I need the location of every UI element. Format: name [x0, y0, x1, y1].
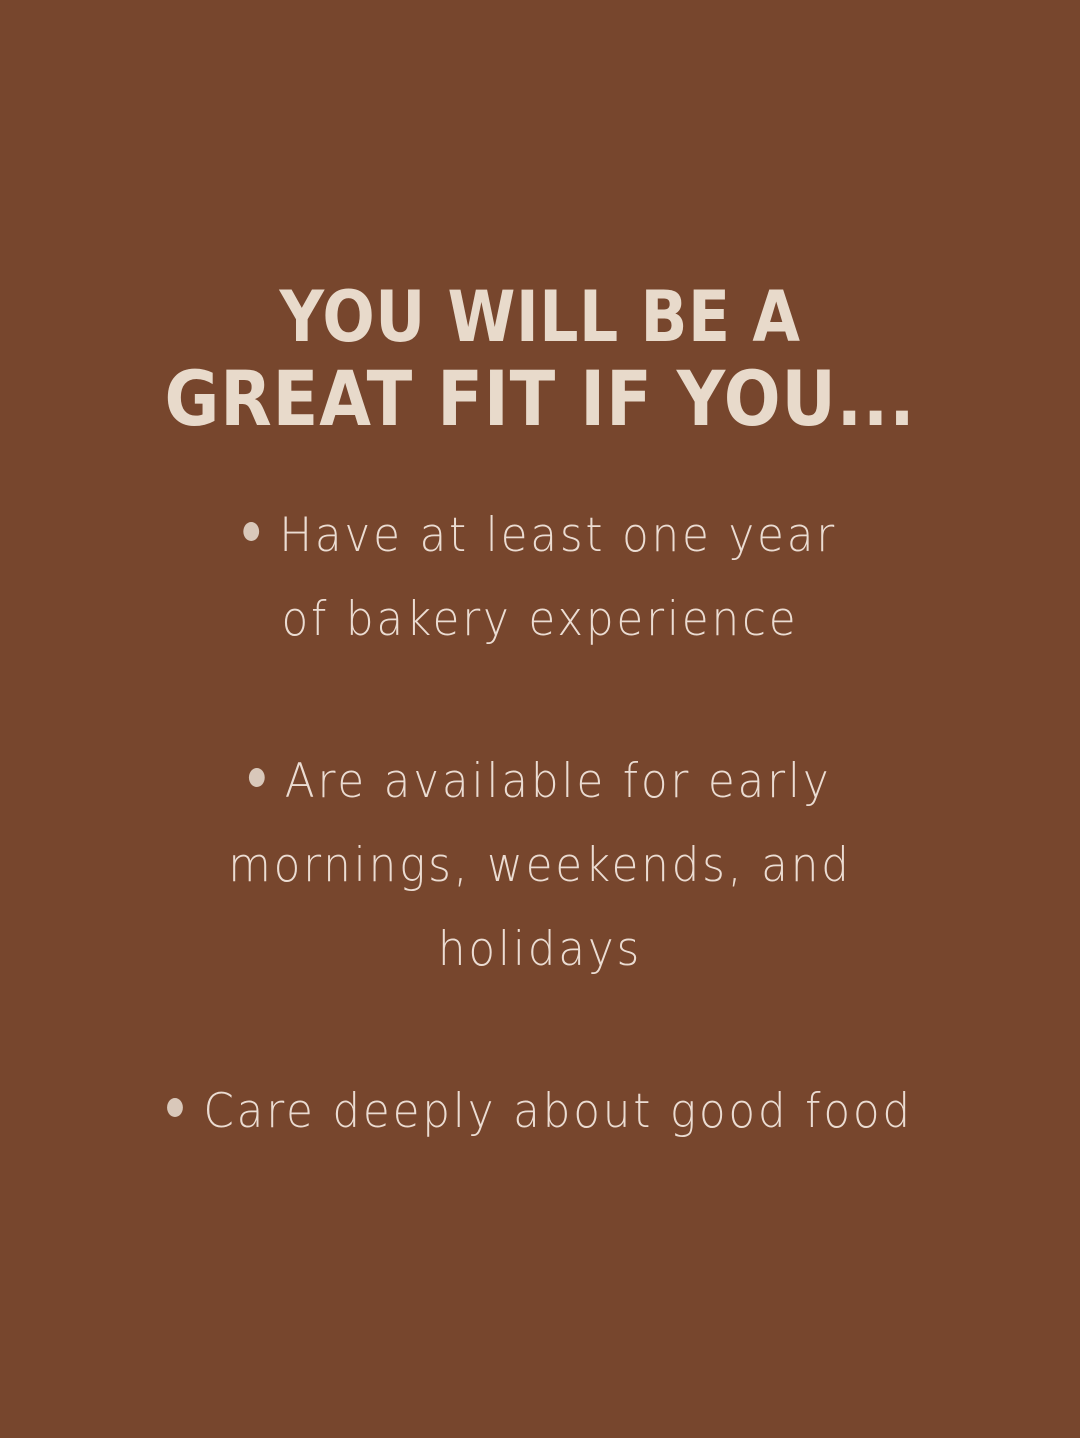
list-item-label: Are available for early mornings, weeken… — [228, 754, 851, 977]
heading-line-1: YOU WILL BE A — [65, 276, 1015, 358]
list-item: Have at least one year of bakery experie… — [38, 492, 1042, 660]
heading-line-2: GREAT FIT IF YOU... — [65, 358, 1015, 440]
page-title: YOU WILL BE A GREAT FIT IF YOU... — [0, 276, 1080, 440]
bullet-dot-icon — [167, 1098, 183, 1117]
list-item-label: Care deeply about good food — [203, 1084, 913, 1139]
list-item: Care deeply about good food — [38, 1068, 1042, 1152]
job-posting-card: YOU WILL BE A GREAT FIT IF YOU... Have a… — [0, 0, 1080, 1438]
requirements-list: Have at least one year of bakery experie… — [0, 492, 1080, 1152]
bullet-dot-icon — [249, 768, 265, 787]
list-item-label: Have at least one year of bakery experie… — [279, 508, 837, 647]
bullet-dot-icon — [243, 522, 259, 541]
list-item: Are available for early mornings, weeken… — [38, 738, 1042, 990]
